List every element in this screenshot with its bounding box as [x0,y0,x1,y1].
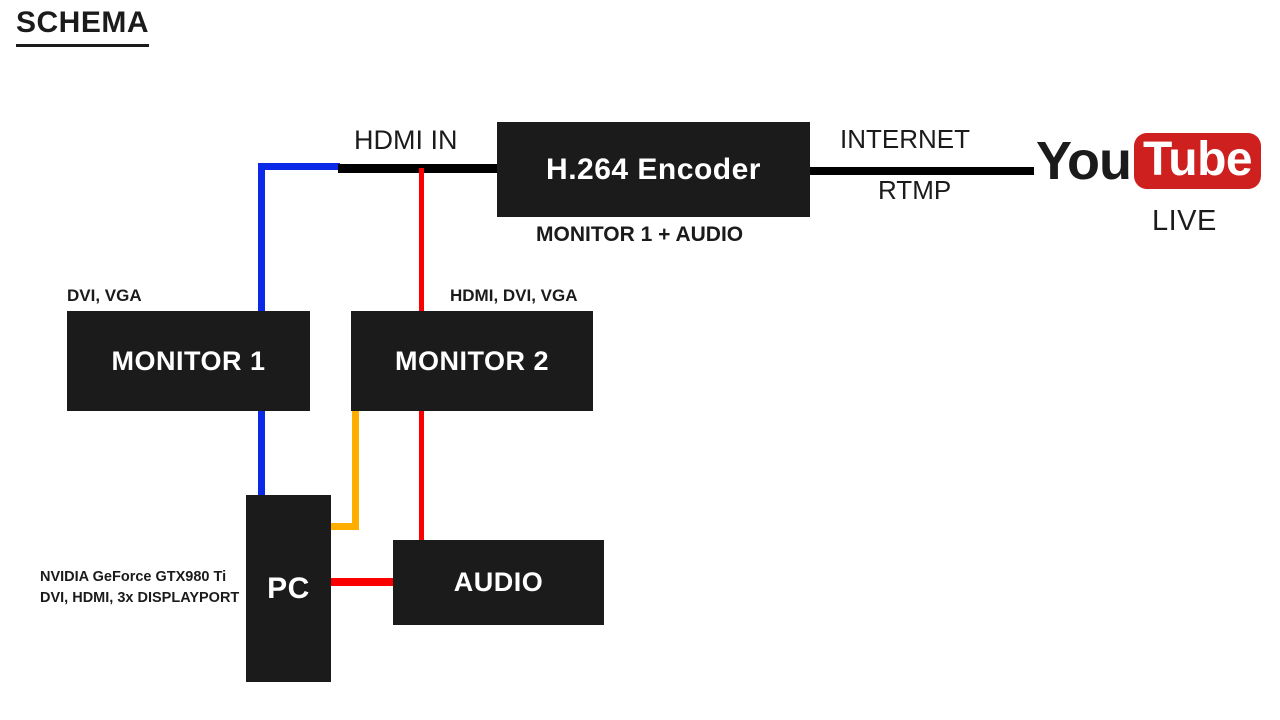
label-pc-gpu-ports: DVI, HDMI, 3x DISPLAYPORT [40,588,239,609]
wire-pc-to-monitor1-horizontal [258,163,340,170]
node-label-monitor1: MONITOR 1 [111,346,265,377]
node-pc[interactable]: PC [246,495,331,682]
page-title: SCHEMA [16,6,149,47]
schema-diagram-canvas: SCHEMA H.264 Encoder MONITOR 1 MONITOR 2… [0,0,1280,720]
wire-encoder-to-youtube [808,167,1034,175]
label-monitor1-ports: DVI, VGA [67,286,142,306]
wire-pc-to-monitor2-vertical [352,411,359,530]
wire-pc-to-monitor2-horizontal [329,523,359,530]
label-internet: INTERNET [840,124,970,155]
node-h264-encoder[interactable]: H.264 Encoder [497,122,810,217]
youtube-live-label: LIVE [1152,205,1217,238]
youtube-logo[interactable]: You Tube [1036,133,1261,189]
node-label-audio: AUDIO [454,567,544,598]
label-monitor2-ports: HDMI, DVI, VGA [450,286,578,306]
youtube-badge: Tube [1134,133,1261,189]
node-audio[interactable]: AUDIO [393,540,604,625]
label-pc-gpu-specs: NVIDIA GeForce GTX980 Ti DVI, HDMI, 3x D… [40,567,239,609]
label-hdmi-in: HDMI IN [352,125,460,156]
node-label-pc: PC [267,572,310,606]
wire-pc-to-audio [329,578,395,586]
label-pc-gpu-model: NVIDIA GeForce GTX980 Ti [40,567,239,588]
youtube-wordmark-tube: Tube [1143,136,1252,184]
wire-hdmi-in-to-encoder [338,164,498,173]
youtube-wordmark-you: You [1036,134,1131,188]
node-label-monitor2: MONITOR 2 [395,346,549,377]
label-encoder-sources: MONITOR 1 + AUDIO [536,223,743,247]
node-label-encoder: H.264 Encoder [546,153,761,187]
node-monitor-1[interactable]: MONITOR 1 [67,311,310,411]
label-rtmp: RTMP [878,175,951,206]
node-monitor-2[interactable]: MONITOR 2 [351,311,593,411]
